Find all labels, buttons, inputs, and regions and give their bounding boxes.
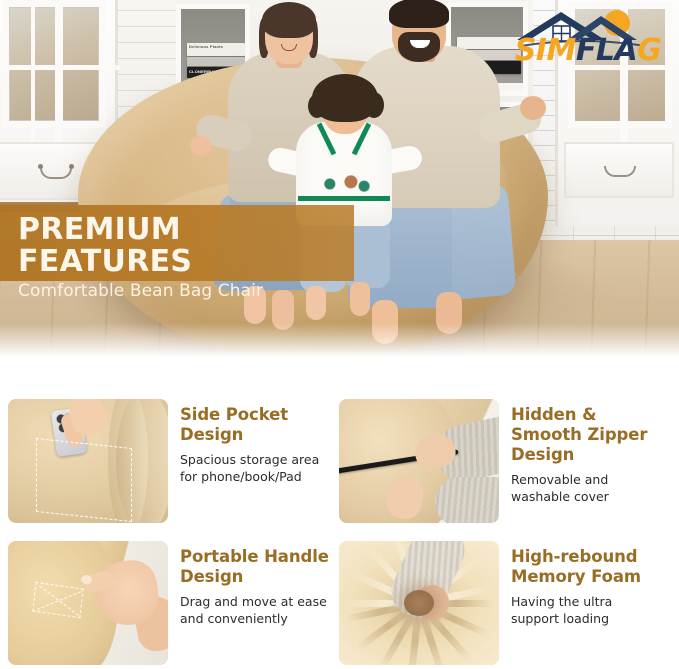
feature-description: Drag and move at ease and conveniently <box>180 594 331 628</box>
features-row-bottom: Portable Handle Design Drag and move at … <box>8 535 671 669</box>
premium-features-banner: PREMIUM FEATURES Comfortable Bean Bag Ch… <box>0 205 354 281</box>
man-hair <box>389 0 449 28</box>
banner-title: PREMIUM FEATURES <box>18 214 354 277</box>
book: Delicious Plants <box>187 43 245 56</box>
product-feature-page: Delicious Plants CLONERRIA 501 NASA <box>0 0 679 669</box>
woman-hand <box>190 136 212 156</box>
feature-zipper: Hidden & Smooth Zipper Design Removable … <box>339 393 670 535</box>
zipper-thumbnail <box>339 399 499 523</box>
feature-text: Hidden & Smooth Zipper Design Removable … <box>499 393 670 506</box>
logo-text-sim: SIM <box>515 33 576 68</box>
drawer-pull-handle <box>604 166 636 177</box>
feature-heading: High-rebound Memory Foam <box>511 547 662 587</box>
feature-heading: Portable Handle Design <box>180 547 331 587</box>
feature-memory-foam: High-rebound Memory Foam Having the ultr… <box>339 535 670 669</box>
hero-bottom-fade <box>0 323 679 385</box>
side-pocket-thumbnail <box>8 399 168 523</box>
child-hair <box>312 74 378 122</box>
cabinet-glass-door <box>2 0 106 128</box>
drawer-pull-handle <box>40 168 72 179</box>
brand-logo: SIMFLAG <box>505 6 671 72</box>
sleeve <box>435 477 499 523</box>
feature-text: High-rebound Memory Foam Having the ultr… <box>499 535 670 628</box>
smile <box>281 44 297 51</box>
woman-hair <box>262 2 316 38</box>
fingernail <box>81 575 92 584</box>
logo-text-fla: FLA <box>576 33 637 68</box>
feature-text: Portable Handle Design Drag and move at … <box>168 535 339 628</box>
banner-subtitle: Comfortable Bean Bag Chair <box>18 281 354 301</box>
press-point <box>404 590 434 616</box>
feature-description: Having the ultra support loading <box>511 594 662 628</box>
brand-wordmark: SIMFLAG <box>505 36 671 66</box>
hero-section: Delicious Plants CLONERRIA 501 NASA <box>0 0 679 385</box>
cabinet-drawer <box>564 142 674 198</box>
handle-thumbnail <box>8 541 168 665</box>
logo-text-g: G <box>637 33 661 68</box>
feature-text: Side Pocket Design Spacious storage area… <box>168 393 339 486</box>
man-hand <box>520 96 546 120</box>
sweater-stripe <box>298 196 390 201</box>
feature-heading: Side Pocket Design <box>180 405 331 445</box>
features-row-top: Side Pocket Design Spacious storage area… <box>8 393 671 535</box>
memory-foam-thumbnail <box>339 541 499 665</box>
feature-side-pocket: Side Pocket Design Spacious storage area… <box>8 393 339 535</box>
handle-cross-stitch <box>37 591 82 610</box>
pocket-outline <box>36 438 132 522</box>
cabinet-mullion <box>31 0 35 142</box>
feature-handle: Portable Handle Design Drag and move at … <box>8 535 339 669</box>
feature-description: Spacious storage area for phone/book/Pad <box>180 452 331 486</box>
feature-heading: Hidden & Smooth Zipper Design <box>511 405 662 465</box>
feature-description: Removable and washable cover <box>511 472 662 506</box>
features-grid: Side Pocket Design Spacious storage area… <box>0 385 679 669</box>
